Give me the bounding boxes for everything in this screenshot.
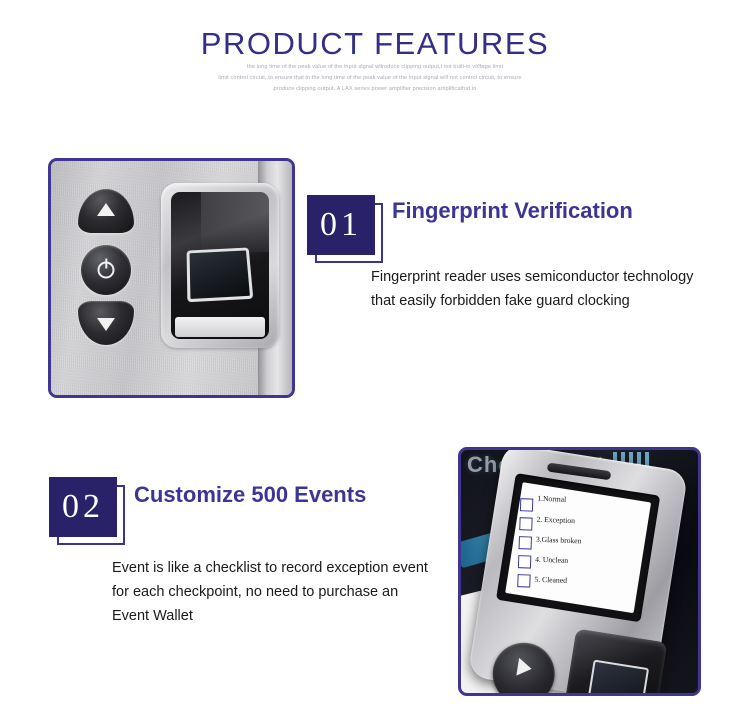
event-checklist: 1.Normal 2. Exception 3.Glass broken <box>517 492 583 589</box>
checkbox-icon[interactable] <box>519 536 532 549</box>
device-speaker-grille <box>547 462 612 480</box>
checklist-item[interactable]: 3.Glass broken <box>519 530 582 551</box>
device-screen-frame: 1.Normal 2. Exception 3.Glass broken <box>496 473 660 622</box>
page-subtitle: the long time of the peak value of the i… <box>145 62 605 95</box>
page-header: PRODUCT FEATURES the long time of the pe… <box>0 0 750 110</box>
power-button[interactable] <box>81 245 131 295</box>
device-fingerprint-window[interactable] <box>564 628 667 693</box>
subtitle-line-3: produce clipping output. A LAX series po… <box>274 86 477 92</box>
arrow-down-icon <box>97 318 115 331</box>
fingerprint-sensor-chip <box>187 247 254 302</box>
checkbox-icon[interactable] <box>517 574 530 587</box>
checkbox-icon[interactable] <box>519 517 532 530</box>
checklist-label: 1.Normal <box>537 494 566 504</box>
feature-badge-01: 01 <box>307 195 385 263</box>
fingerprint-sensor-window[interactable] <box>171 192 269 339</box>
checklist-item[interactable]: 4. Unclean <box>518 549 581 570</box>
device-screen[interactable]: 1.Normal 2. Exception 3.Glass broken <box>505 482 651 613</box>
checkpoint-scene: Check Point 1.Normal <box>461 450 698 693</box>
page-title: PRODUCT FEATURES <box>0 26 750 62</box>
feature-heading-01: Fingerprint Verification <box>392 198 633 224</box>
checklist-item[interactable]: 5. Cleaned <box>517 568 580 589</box>
device-nav-button[interactable] <box>488 638 559 693</box>
patrol-reader-device: 1.Normal 2. Exception 3.Glass broken <box>468 450 689 693</box>
power-icon <box>98 262 115 279</box>
checklist-label: 3.Glass broken <box>536 535 582 546</box>
feature-badge-02: 02 <box>49 477 127 545</box>
checklist-item[interactable]: 2. Exception <box>519 511 582 532</box>
arrow-up-icon <box>97 203 115 216</box>
checkbox-icon[interactable] <box>518 555 531 568</box>
feature-body-02: Event is like a checklist to record exce… <box>112 556 432 628</box>
feature-image-fingerprint-reader <box>48 158 295 398</box>
badge-number: 02 <box>49 477 117 537</box>
subtitle-line-2: limit control circuit, to ensure that in… <box>90 73 650 84</box>
feature-image-checkpoint-device: Check Point 1.Normal <box>458 447 701 696</box>
fingerprint-device-body <box>51 161 292 395</box>
checklist-label: 4. Unclean <box>535 555 568 565</box>
checklist-item[interactable]: 1.Normal <box>520 492 583 513</box>
product-features-page: PRODUCT FEATURES the long time of the pe… <box>0 0 750 716</box>
device-fingerprint-chip <box>588 660 650 693</box>
sensor-glare <box>201 192 269 252</box>
play-arrow-icon <box>516 658 533 678</box>
fingerprint-sensor-bezel <box>161 183 279 348</box>
subtitle-line-1: the long time of the peak value of the i… <box>247 64 503 70</box>
feature-heading-02: Customize 500 Events <box>134 482 366 508</box>
checklist-label: 5. Cleaned <box>534 575 567 585</box>
feature-body-01: Fingerprint reader uses semiconductor te… <box>371 265 696 313</box>
checkbox-icon[interactable] <box>520 498 533 511</box>
badge-number: 01 <box>307 195 375 255</box>
checklist-label: 2. Exception <box>536 515 575 525</box>
sensor-finger-rest <box>175 317 265 337</box>
